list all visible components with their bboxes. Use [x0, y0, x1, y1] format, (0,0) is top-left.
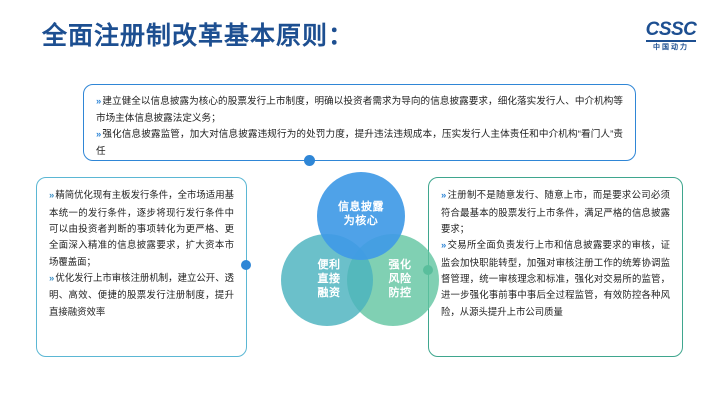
panel-right-item-2-text: 交易所全面负责发行上市和信息披露要求的审核，证监会加快职能转型，加强对审核注册工… [441, 239, 670, 317]
venn-circle-core: 信息披露为核心 [317, 172, 405, 260]
panel-left-item-2: »优化发行上市审核注册机制，建立公开、透明、高效、便捷的股票发行注册制度，提升直… [49, 270, 234, 320]
venn-diagram: 信息披露为核心 便利直接融资 强化风险防控 [281, 172, 439, 337]
venn-circle-risk-label: 强化风险防控 [369, 259, 417, 300]
panel-top-item-1: »建立健全以信息披露为核心的股票发行上市制度，明确以投资者需求为导向的信息披露要… [96, 94, 623, 127]
information-disclosure-panel: »建立健全以信息披露为核心的股票发行上市制度，明确以投资者需求为导向的信息披露要… [83, 84, 636, 161]
registration-review-panel: »注册制不是随意发行、随意上市，而是要求公司必须符合最基本的股票发行上市条件，满… [428, 177, 683, 357]
page-title: 全面注册制改革基本原则： [42, 16, 354, 52]
brand-logo-subtitle: 中国动力 [638, 44, 704, 51]
panel-left-item-1: »精简优化现有主板发行条件，全市场适用基本统一的发行条件，逐步将现行发行条件中可… [49, 187, 234, 270]
slide-canvas: 全面注册制改革基本原则： CSSC 中国动力 »建立健全以信息披露为核心的股票发… [0, 0, 720, 404]
venn-circle-core-label: 信息披露为核心 [337, 201, 385, 231]
brand-logo-mark: CSSC [646, 20, 697, 42]
connector-dot-left [241, 260, 251, 270]
panel-top-item-1-text: 建立健全以信息披露为核心的股票发行上市制度，明确以投资者需求为导向的信息披露要求… [96, 96, 623, 124]
venn-circle-financing-label: 便利直接融资 [309, 259, 345, 300]
panel-right-item-1-text: 注册制不是随意发行、随意上市，而是要求公司必须符合最基本的股票发行上市条件，满足… [441, 189, 670, 234]
panel-top-item-2: »强化信息披露监管，加大对信息披露违规行为的处罚力度，提升违法违规成本，压实发行… [96, 127, 623, 160]
panel-left-item-2-text: 优化发行上市审核注册机制，建立公开、透明、高效、便捷的股票发行注册制度，提升直接… [49, 272, 234, 317]
panel-left-item-1-text: 精简优化现有主板发行条件，全市场适用基本统一的发行条件，逐步将现行发行条件中可以… [49, 189, 234, 267]
issuance-conditions-panel: »精简优化现有主板发行条件，全市场适用基本统一的发行条件，逐步将现行发行条件中可… [36, 177, 247, 357]
brand-logo: CSSC 中国动力 [638, 20, 704, 51]
panel-top-item-2-text: 强化信息披露监管，加大对信息披露违规行为的处罚力度，提升违法违规成本，压实发行人… [96, 129, 623, 157]
panel-right-item-1: »注册制不是随意发行、随意上市，而是要求公司必须符合最基本的股票发行上市条件，满… [441, 187, 670, 237]
panel-right-item-2: »交易所全面负责发行上市和信息披露要求的审核，证监会加快职能转型，加强对审核注册… [441, 237, 670, 320]
connector-dot-top [304, 155, 315, 166]
